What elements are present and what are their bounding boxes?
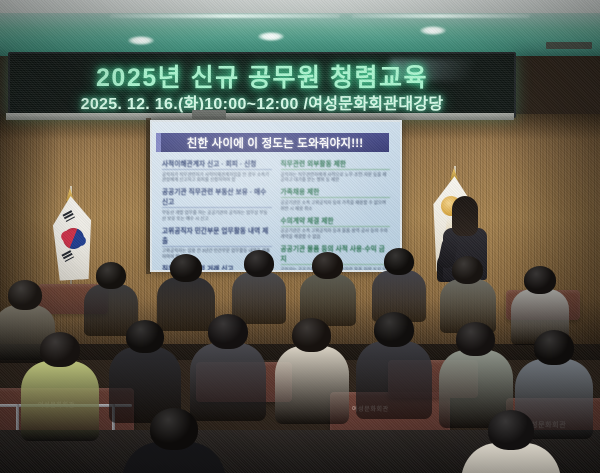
downlight — [420, 26, 446, 35]
slide-bullet: 공공기관 직무관련 부동산 보유 · 매수 신고부동산 개발 업무를 하는 공공… — [162, 186, 272, 221]
audience-head — [374, 312, 414, 347]
presenter-hair — [452, 196, 478, 236]
slide-bullet: 사적이해관계자 신고 · 회피 · 신청공직자가 직무관련자가 사적이해관계자임… — [162, 158, 272, 183]
slide-title-text: 친한 사이에 이 정도는 도와줘야지!!! — [187, 135, 364, 151]
audience-head — [312, 252, 343, 279]
lecture-hall-photo: 2025년 신규 공무원 청렴교육 2025. 12. 16.(화)10:00~… — [0, 0, 600, 473]
downlight — [128, 36, 154, 45]
led-subline: 2025. 12. 16.(화)10:00~12:00 /여성문화회관대강당 — [10, 90, 514, 114]
ceiling-vent — [546, 42, 592, 49]
slide-bullet: 직무관련 외부활동 제한공직자는 직무관련자에게 사적으로 노무·조언·자문 등… — [281, 158, 391, 183]
slide-bullet-body: 공공기관은 소속 고위공직자 등의 가족을 채용할 수 없으며 위반 시 채용 … — [281, 200, 391, 212]
audience-head — [534, 330, 574, 365]
audience-shoulders — [21, 361, 99, 441]
audience-head — [126, 320, 164, 353]
slide-bullet-body: 부동산 개발 업무를 하는 공공기관의 공직자는 업무상 부동산 보유 또는 매… — [162, 210, 272, 222]
audience-shoulders — [157, 277, 215, 331]
audience-head — [488, 410, 534, 450]
audience-head — [292, 318, 331, 352]
led-mount-tab — [192, 110, 226, 119]
audience-head — [170, 254, 202, 282]
slide-bullet-body: 공공기관은 소속 고위공직자 등과 물품·용역·공사 등의 수의계약을 체결할 … — [281, 228, 391, 240]
ceiling-light-strip — [110, 14, 340, 18]
ceiling-light-strip — [352, 14, 530, 18]
slide-title-bar: 친한 사이에 이 정도는 도와줘야지!!! — [161, 133, 389, 152]
audience-head — [452, 256, 483, 284]
led-mount-rail — [6, 113, 514, 120]
audience-head — [244, 250, 274, 277]
slide-bullet: 수의계약 체결 제한공공기관은 소속 고위공직자 등과 물품·용역·공사 등의 … — [281, 215, 391, 240]
led-banner-sign: 2025년 신규 공무원 청렴교육 2025. 12. 16.(화)10:00~… — [8, 52, 516, 118]
slide-bullet-heading: 수의계약 체결 제한 — [281, 215, 391, 227]
slide-bullet-heading: 공공기관 직무관련 부동산 보유 · 매수 신고 — [162, 186, 272, 208]
slide-bullet-heading: 직무관련 외부활동 제한 — [281, 158, 391, 170]
led-headline: 2025년 신규 공무원 청렴교육 — [10, 58, 514, 94]
audience-head — [384, 248, 414, 275]
slide-bullet-heading: 사적이해관계자 신고 · 회피 · 신청 — [162, 158, 272, 170]
audience-shoulders — [275, 346, 349, 424]
audience-head — [8, 280, 42, 310]
downlight — [258, 32, 284, 41]
audience-shoulders — [356, 341, 432, 419]
slide-bullet: 가족채용 제한공공기관은 소속 고위공직자 등의 가족을 채용할 수 없으며 위… — [281, 186, 391, 211]
slide-bullet-body: 공직자가 직무관련자가 사적이해관계자임을 안 경우 소속기관장에게 신고하고 … — [162, 172, 272, 184]
audience-head — [456, 322, 495, 356]
ceiling-soffit — [0, 0, 600, 13]
audience-head — [524, 266, 556, 294]
audience-head — [96, 262, 126, 289]
audience-head — [208, 314, 248, 349]
audience-shoulders — [232, 272, 286, 324]
audience-shoulders — [190, 343, 266, 421]
audience-head — [40, 332, 80, 367]
audience-head — [150, 408, 198, 450]
slide-bullet-body: 공직자는 직무관련자에게 사적으로 노무·조언·자문 등을 제공하고 대가를 받… — [281, 172, 391, 184]
slide-bullet-heading: 가족채용 제한 — [281, 186, 391, 198]
